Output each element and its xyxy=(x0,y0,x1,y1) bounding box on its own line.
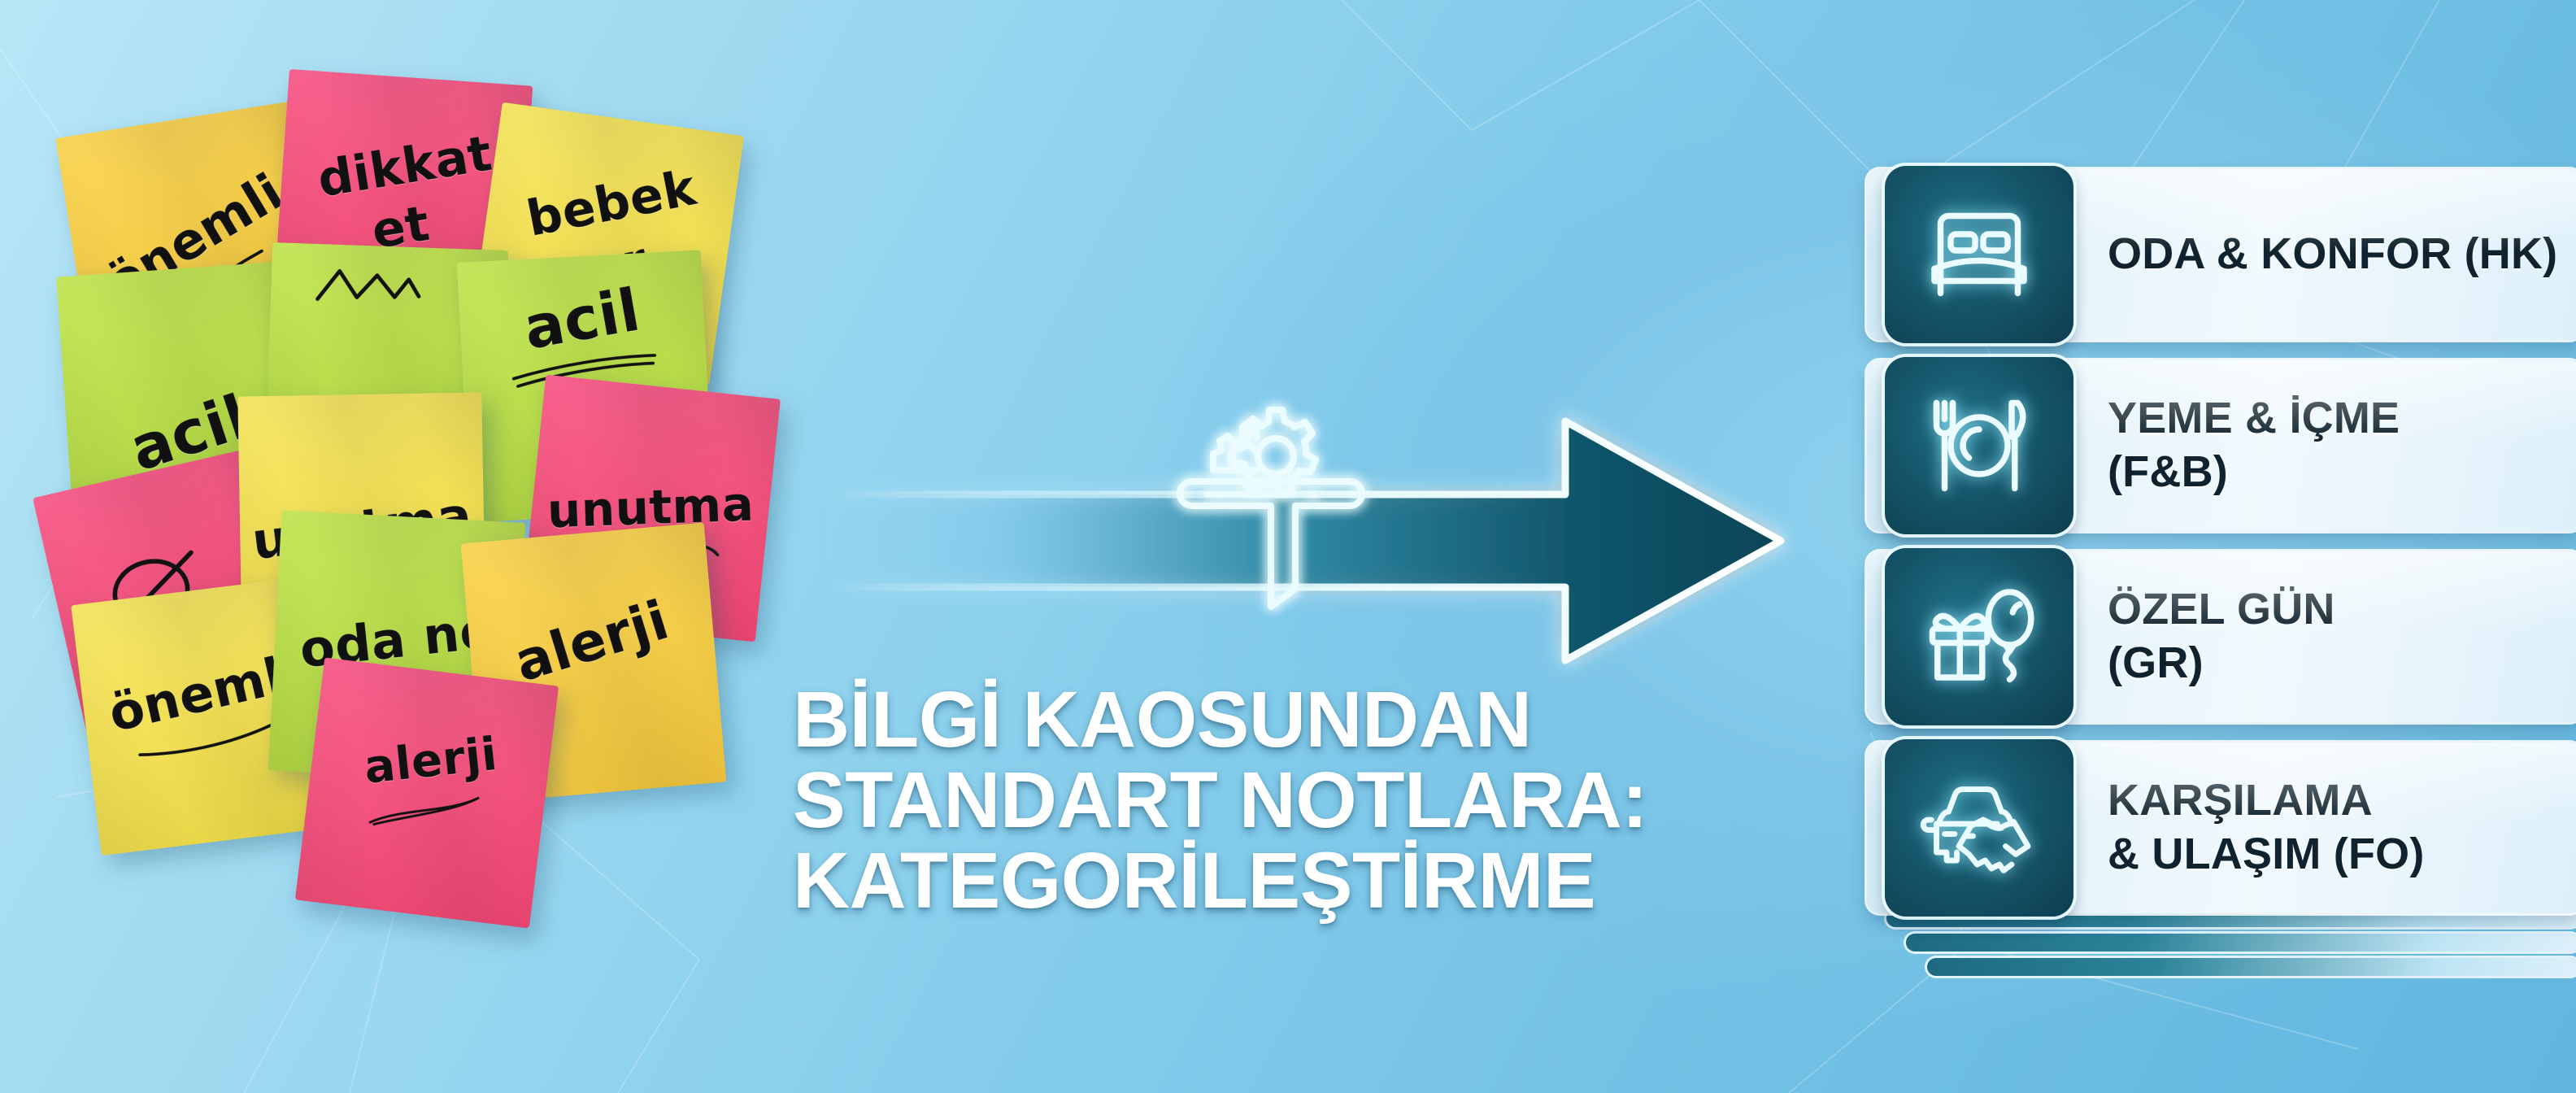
category-label-line-1: YEME & İÇME xyxy=(2108,392,2563,446)
category-label-line-1: ODA & KONFOR (HK) xyxy=(2108,228,2563,281)
title-line-3: KATEGORİLEŞTİRME xyxy=(793,841,1842,921)
category-card-special-day[interactable]: ÖZEL GÜN (GR) xyxy=(1867,551,2576,722)
category-card-room-comfort[interactable]: ODA & KONFOR (HK) xyxy=(1867,169,2576,340)
category-label: ÖZEL GÜN (GR) xyxy=(2108,551,2563,722)
sticky-note: alerji xyxy=(295,657,559,928)
funnel-gear-icon xyxy=(1169,385,1373,613)
category-label-line-2: (GR) xyxy=(2108,637,2563,690)
car-handshake-icon xyxy=(1885,739,2073,917)
category-label: ODA & KONFOR (HK) xyxy=(2108,169,2563,340)
bed-icon xyxy=(1885,166,2073,343)
title-line-1: BİLGİ KAOSUNDAN xyxy=(793,680,1842,760)
stacked-card-edge-2 xyxy=(1906,934,2576,951)
category-label-line-2: & ULAŞIM (FO) xyxy=(2108,828,2563,882)
category-label: KARŞILAMA & ULAŞIM (FO) xyxy=(2108,742,2563,913)
category-label-line-1: ÖZEL GÜN xyxy=(2108,583,2563,637)
sticky-notes-cluster: önemli dikkat et bebek var acil xyxy=(65,69,772,923)
cutlery-plate-icon xyxy=(1885,357,2073,534)
category-label: YEME & İÇME (F&B) xyxy=(2108,360,2563,531)
title-line-2: STANDART NOTLARA: xyxy=(793,760,1842,841)
category-card-welcome-transport[interactable]: KARŞILAMA & ULAŞIM (FO) xyxy=(1867,742,2576,913)
stacked-card-edge-3 xyxy=(1927,958,2576,976)
page-title: BİLGİ KAOSUNDAN STANDART NOTLARA: KATEGO… xyxy=(793,680,1842,921)
note-squiggle xyxy=(313,260,466,314)
category-list: ODA & KONFOR (HK) YEME & İÇME (F&B) xyxy=(1867,159,2576,965)
category-label-line-2: (F&B) xyxy=(2108,446,2563,499)
category-card-food-beverage[interactable]: YEME & İÇME (F&B) xyxy=(1867,360,2576,531)
promo-banner: önemli dikkat et bebek var acil xyxy=(0,0,2576,1093)
category-label-line-1: KARŞILAMA xyxy=(2108,774,2563,828)
gift-balloon-icon xyxy=(1885,548,2073,725)
